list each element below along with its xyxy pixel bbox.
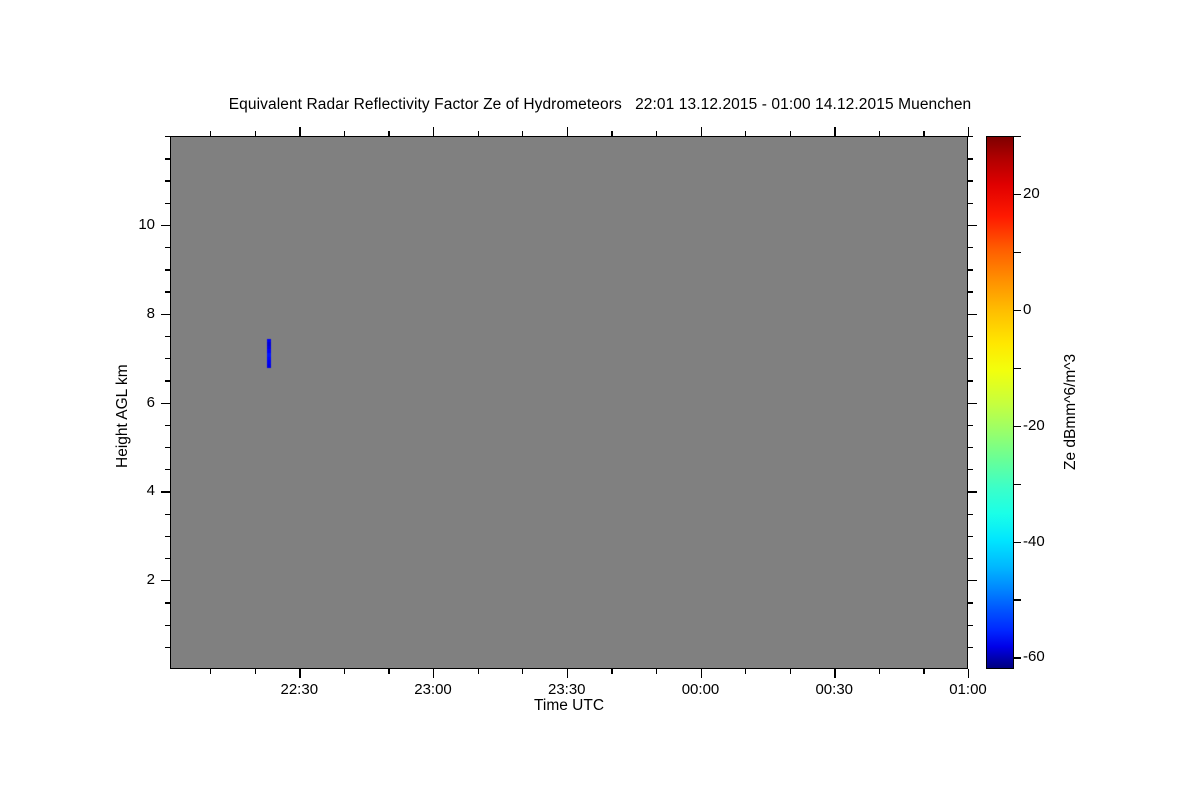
y-tick-right [968,358,973,359]
x-tick-top [611,131,612,136]
y-tick-minor [165,358,170,359]
x-tick-label: 23:00 [388,681,478,698]
x-tick-minor [879,669,880,674]
x-tick-label: 00:00 [656,681,746,698]
x-tick-label: 23:30 [522,681,612,698]
x-tick-top [968,127,969,136]
colorbar-tick-label: -60 [1023,648,1069,665]
x-tick-minor [656,669,657,674]
x-tick-major [834,669,835,678]
colorbar-tick [1014,542,1021,543]
x-tick-top [433,127,434,136]
x-tick-top [478,131,479,136]
y-tick-right [968,491,977,492]
y-tick-right [968,647,973,648]
x-tick-minor [790,669,791,674]
y-tick-minor [165,647,170,648]
colorbar-tick [1014,657,1021,658]
y-tick-major [161,403,170,404]
x-tick-minor [611,669,612,674]
colorbar-tick [1014,599,1021,600]
x-tick-top [790,131,791,136]
y-tick-right [968,380,973,381]
y-tick-label: 4 [115,482,155,499]
y-tick-minor [165,625,170,626]
y-tick-minor [165,180,170,181]
y-tick-right [968,314,977,315]
x-tick-top [834,127,835,136]
x-tick-top [656,131,657,136]
y-tick-major [161,580,170,581]
y-tick-minor [165,336,170,337]
y-tick-minor [165,425,170,426]
x-tick-top [210,131,211,136]
colorbar-tick [1014,368,1021,369]
x-tick-minor [522,669,523,674]
y-tick-right [968,336,973,337]
colorbar-tick-label: 0 [1023,301,1069,318]
y-tick-right [968,180,973,181]
y-tick-minor [165,247,170,248]
y-tick-minor [165,158,170,159]
x-tick-minor [923,669,924,674]
y-tick-right [968,425,973,426]
x-tick-top [567,127,568,136]
x-tick-minor [388,669,389,674]
colorbar-label: Ze dBmm^6/m^3 [1062,354,1080,470]
figure-title: Equivalent Radar Reflectivity Factor Ze … [0,96,1200,114]
y-tick-minor [165,469,170,470]
y-tick-right [968,203,973,204]
x-tick-top [344,131,345,136]
y-tick-minor [165,136,170,137]
y-tick-label: 10 [115,216,155,233]
y-tick-minor [165,380,170,381]
y-tick-right [968,514,973,515]
x-tick-top [701,127,702,136]
reflectivity-heatmap-canvas [171,137,968,669]
x-tick-major [433,669,434,678]
x-tick-major [701,669,702,678]
x-tick-label: 01:00 [923,681,1013,698]
x-tick-minor [344,669,345,674]
y-tick-minor [165,269,170,270]
colorbar-tick [1014,310,1021,311]
y-tick-right [968,269,973,270]
y-tick-major [161,225,170,226]
colorbar-tick [1014,194,1021,195]
x-tick-major [968,669,969,678]
colorbar-tick [1014,426,1021,427]
y-tick-right [968,469,973,470]
y-tick-major [161,491,170,492]
x-tick-top [522,131,523,136]
colorbar-tick-label: 20 [1023,185,1069,202]
x-tick-top [879,131,880,136]
x-tick-major [299,669,300,678]
x-axis-label: Time UTC [170,697,968,715]
y-tick-label: 8 [115,305,155,322]
colorbar[interactable] [986,136,1014,669]
plot-area[interactable] [170,136,968,669]
y-tick-right [968,158,973,159]
y-tick-major [161,314,170,315]
y-tick-right [968,602,973,603]
colorbar-tick [1014,252,1021,253]
x-tick-minor [210,669,211,674]
x-tick-top [299,127,300,136]
y-tick-right [968,447,973,448]
x-tick-top [923,131,924,136]
y-tick-minor [165,514,170,515]
x-tick-minor [745,669,746,674]
y-tick-right [968,291,973,292]
colorbar-tick [1014,484,1021,485]
x-tick-top [745,131,746,136]
y-tick-minor [165,536,170,537]
y-tick-right [968,225,977,226]
y-tick-right [968,580,977,581]
y-tick-right [968,136,973,137]
y-tick-right [968,536,973,537]
y-tick-minor [165,602,170,603]
y-axis-label: Height AGL km [114,364,132,468]
y-tick-minor [165,447,170,448]
y-tick-right [968,558,973,559]
y-tick-minor [165,558,170,559]
colorbar-tick [1014,136,1021,137]
y-tick-label: 2 [115,571,155,588]
y-tick-minor [165,291,170,292]
x-tick-minor [255,669,256,674]
x-tick-label: 00:30 [789,681,879,698]
x-tick-minor [478,669,479,674]
y-tick-right [968,625,973,626]
x-tick-top [255,131,256,136]
colorbar-tick-label: -40 [1023,533,1069,550]
x-tick-label: 22:30 [254,681,344,698]
radar-reflectivity-figure: Equivalent Radar Reflectivity Factor Ze … [0,0,1200,800]
x-tick-major [567,669,568,678]
y-tick-minor [165,203,170,204]
y-tick-right [968,247,973,248]
x-tick-top [388,131,389,136]
y-tick-right [968,403,977,404]
